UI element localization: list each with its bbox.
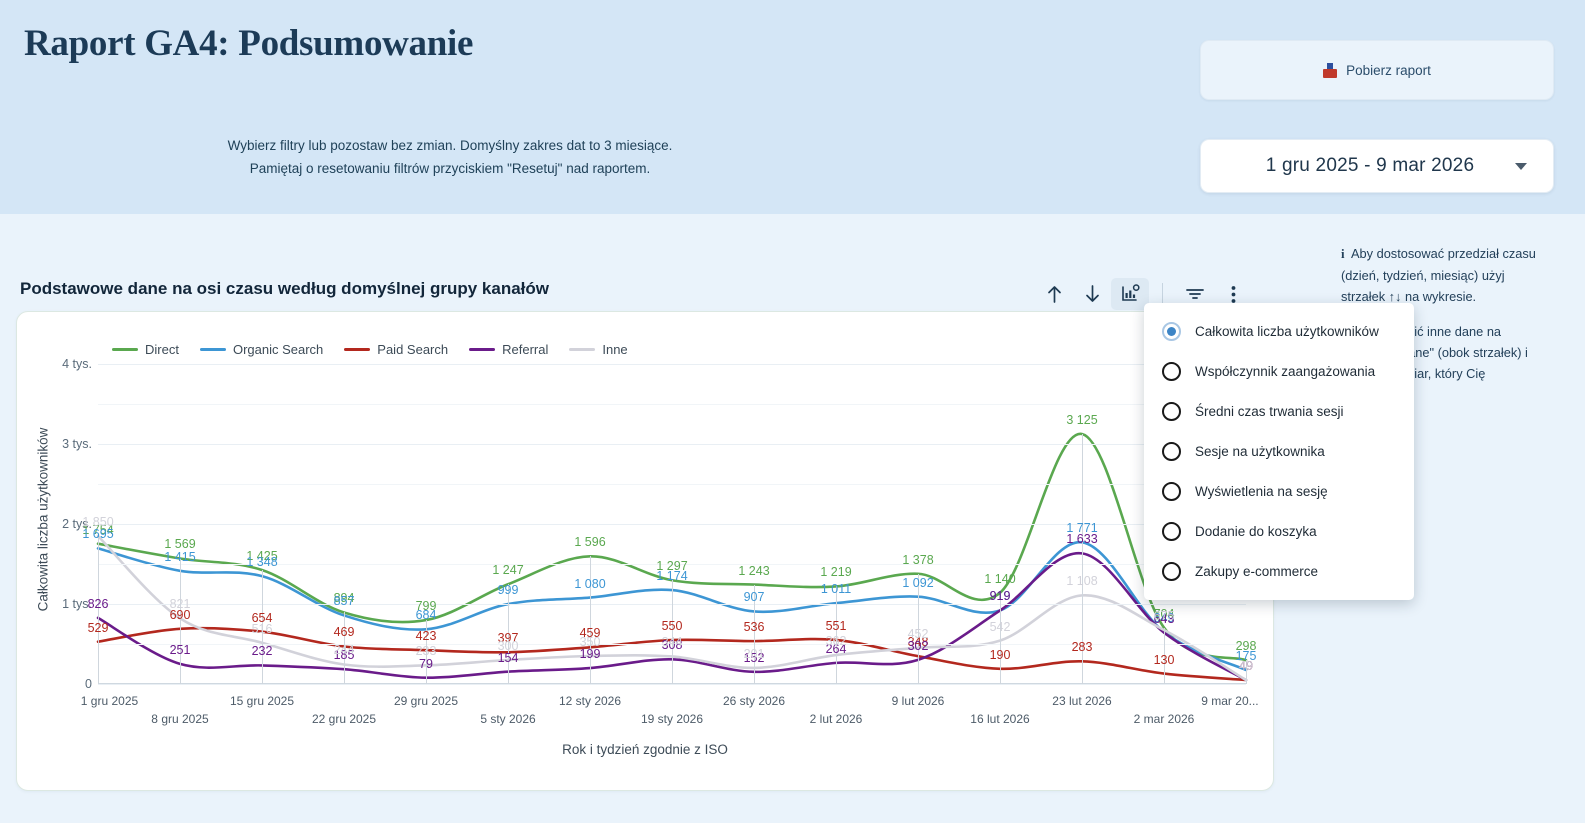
data-label: 684 (416, 608, 437, 622)
legend-label: Direct (145, 342, 179, 357)
data-label: 1 174 (656, 569, 687, 583)
data-label: 542 (990, 620, 1011, 634)
x-axis-tick-label: 19 sty 2026 (641, 712, 703, 726)
data-label: 199 (580, 647, 601, 661)
chart-settings-icon[interactable] (1111, 278, 1149, 310)
dropdown-item-6[interactable]: Zakupy e-commerce (1144, 551, 1414, 591)
data-label: 1 596 (574, 535, 605, 549)
data-label: 1 108 (1066, 574, 1097, 588)
dropdown-item-3[interactable]: Sesje na użytkownika (1144, 431, 1414, 471)
gridline (98, 364, 1246, 365)
legend-swatch (200, 348, 226, 351)
data-label: 452 (908, 627, 929, 641)
data-label: 300 (498, 639, 519, 653)
x-axis-title: Rok i tydzień zgodnie z ISO (17, 742, 1273, 757)
chart-legend: DirectOrganic SearchPaid SearchReferralI… (112, 342, 628, 357)
data-label: 1 080 (574, 577, 605, 591)
x-axis-tick-label: 15 gru 2025 (230, 694, 294, 708)
legend-label: Paid Search (377, 342, 448, 357)
radio-unselected-icon[interactable] (1162, 522, 1181, 541)
data-label: 675 (1154, 609, 1175, 623)
x-axis-tick-label: 23 lut 2026 (1052, 694, 1111, 708)
dropdown-item-0[interactable]: Całkowita liczba użytkowników (1144, 311, 1414, 351)
dropdown-item-5[interactable]: Dodanie do koszyka (1144, 511, 1414, 551)
data-label: 283 (1072, 640, 1093, 654)
dropdown-item-label: Sesje na użytkownika (1195, 444, 1325, 459)
x-axis-tick-label: 12 sty 2026 (559, 694, 621, 708)
data-label: 1 243 (738, 564, 769, 578)
data-label: 907 (744, 590, 765, 604)
data-label: 190 (990, 648, 1011, 662)
download-report-button[interactable]: Pobierz raport (1200, 40, 1554, 100)
side-info-text-1: Aby dostosować przedział czasu (dzień, t… (1341, 246, 1536, 304)
y-axis-tick-label: 4 tys. (62, 357, 92, 371)
data-label: 469 (334, 625, 355, 639)
arrow-down-icon[interactable] (1073, 278, 1111, 310)
x-axis-tick-label: 2 lut 2026 (810, 712, 863, 726)
dropdown-item-1[interactable]: Współczynnik zaangażowania (1144, 351, 1414, 391)
data-label: 244 (334, 643, 355, 657)
data-tick-marker (1000, 593, 1001, 684)
legend-item-paid-search[interactable]: Paid Search (344, 342, 448, 357)
x-axis-tick-label: 9 mar 20... (1201, 694, 1258, 708)
dropdown-item-label: Dodanie do koszyka (1195, 524, 1317, 539)
data-label: 201 (744, 647, 765, 661)
chevron-down-icon (1515, 163, 1527, 170)
download-icon (1323, 63, 1337, 78)
data-label: 1 011 (821, 582, 851, 596)
toolbar-divider (1162, 283, 1163, 305)
dropdown-item-label: Całkowita liczba użytkowników (1195, 324, 1379, 339)
y-axis-title: Całkowita liczba użytkowników (36, 390, 51, 650)
data-label: 536 (744, 620, 765, 634)
legend-label: Referral (502, 342, 548, 357)
dropdown-item-4[interactable]: Wyświetlenia na sesję (1144, 471, 1414, 511)
radio-unselected-icon[interactable] (1162, 482, 1181, 501)
radio-unselected-icon[interactable] (1162, 362, 1181, 381)
data-label: 857 (334, 594, 355, 608)
data-label: 529 (88, 621, 109, 635)
legend-label: Inne (602, 342, 627, 357)
plot-area: 01 tys.2 tys.3 tys.4 tys.1 gru 20258 gru… (98, 364, 1246, 684)
data-label: 1 219 (820, 565, 851, 579)
data-label: 1 092 (902, 576, 933, 590)
intro-line-1: Wybierz filtry lub pozostaw bez zmian. D… (0, 134, 900, 157)
legend-swatch (112, 348, 138, 351)
radio-unselected-icon[interactable] (1162, 562, 1181, 581)
intro-line-2: Pamiętaj o resetowaniu filtrów przyciski… (0, 157, 900, 180)
data-label: 1 378 (902, 553, 933, 567)
gridline (98, 444, 1246, 445)
data-label: 1 348 (246, 555, 277, 569)
data-label: 919 (990, 589, 1011, 603)
x-axis-tick-label: 8 gru 2025 (151, 712, 208, 726)
legend-swatch (344, 348, 370, 351)
dropdown-item-2[interactable]: Średni czas trwania sesji (1144, 391, 1414, 431)
data-tick-marker (590, 556, 591, 684)
x-axis-tick-label: 5 sty 2026 (480, 712, 535, 726)
chart-card: DirectOrganic SearchPaid SearchReferralI… (16, 311, 1274, 791)
data-label: 232 (252, 644, 273, 658)
legend-swatch (469, 348, 495, 351)
data-label: 233 (416, 644, 437, 658)
y-axis-tick-label: 0 (85, 677, 92, 691)
data-label: 1 850 (82, 515, 113, 529)
dropdown-item-label: Zakupy e-commerce (1195, 564, 1318, 579)
data-label: 344 (662, 635, 683, 649)
date-range-value: 1 gru 2025 - 9 mar 2026 (1201, 155, 1515, 177)
dropdown-item-label: Współczynnik zaangażowania (1195, 364, 1375, 379)
x-axis-tick-label: 22 gru 2025 (312, 712, 376, 726)
data-label: 423 (416, 629, 437, 643)
x-axis-tick-label: 16 lut 2026 (970, 712, 1029, 726)
legend-item-direct[interactable]: Direct (112, 342, 179, 357)
x-axis-tick-label: 1 gru 2025 (81, 694, 138, 708)
arrow-up-icon[interactable] (1035, 278, 1073, 310)
data-label: 516 (252, 622, 273, 636)
data-label: 1 633 (1066, 532, 1097, 546)
x-axis-tick-label: 26 sty 2026 (723, 694, 785, 708)
side-info-paragraph-1: i Aby dostosować przedział czasu (dzień,… (1341, 243, 1541, 307)
data-label: 821 (170, 597, 191, 611)
data-label: 826 (88, 597, 109, 611)
data-label: 251 (170, 643, 191, 657)
data-label: 1 695 (82, 527, 113, 541)
data-label: 550 (662, 619, 683, 633)
data-label: 1 415 (164, 550, 195, 564)
data-label: 49 (1239, 659, 1253, 673)
data-label: 130 (1154, 653, 1175, 667)
dropdown-item-label: Średni czas trwania sesji (1195, 404, 1344, 419)
gridline-minor (98, 404, 1246, 405)
x-axis-tick-label: 9 lut 2026 (892, 694, 945, 708)
data-label: 362 (826, 634, 847, 648)
legend-item-organic-search[interactable]: Organic Search (200, 342, 323, 357)
data-label: 1 247 (492, 563, 523, 577)
header-band: Raport GA4: Podsumowanie Wybierz filtry … (0, 0, 1585, 214)
x-axis-tick-label: 2 mar 2026 (1134, 712, 1195, 726)
data-label: 302 (908, 639, 929, 653)
info-icon: i (1341, 247, 1345, 261)
legend-label: Organic Search (233, 342, 323, 357)
radio-selected-icon[interactable] (1162, 322, 1181, 341)
data-label: 3 125 (1066, 413, 1097, 427)
gridline (98, 684, 1246, 685)
chart-section-title: Podstawowe dane na osi czasu według domy… (20, 279, 549, 299)
x-axis-tick-label: 29 gru 2025 (394, 694, 458, 708)
data-label: 350 (580, 635, 601, 649)
radio-unselected-icon[interactable] (1162, 442, 1181, 461)
data-label: 1 140 (984, 572, 1015, 586)
data-label: 551 (826, 619, 847, 633)
y-axis-tick-label: 3 tys. (62, 437, 92, 451)
metric-dropdown-menu[interactable]: Całkowita liczba użytkownikówWspółczynni… (1144, 303, 1414, 600)
page-root: Raport GA4: Podsumowanie Wybierz filtry … (0, 0, 1585, 823)
page-title: Raport GA4: Podsumowanie (24, 22, 473, 65)
dropdown-item-label: Wyświetlenia na sesję (1195, 484, 1328, 499)
date-range-picker[interactable]: 1 gru 2025 - 9 mar 2026 (1200, 139, 1554, 193)
data-label: 999 (498, 583, 519, 597)
gridline-minor (98, 484, 1246, 485)
data-label: 79 (419, 657, 433, 671)
legend-item-inne[interactable]: Inne (569, 342, 627, 357)
legend-item-referral[interactable]: Referral (469, 342, 548, 357)
intro-text: Wybierz filtry lub pozostaw bez zmian. D… (0, 134, 900, 180)
legend-swatch (569, 348, 595, 351)
radio-unselected-icon[interactable] (1162, 402, 1181, 421)
download-report-label: Pobierz raport (1346, 63, 1431, 78)
